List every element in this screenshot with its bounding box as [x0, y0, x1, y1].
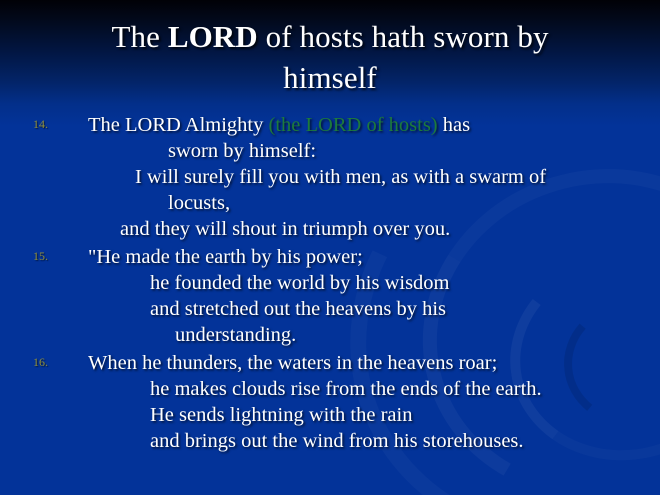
verse-text-highlight: (the LORD of hosts): [269, 114, 438, 136]
slide-title: The LORD of hosts hath sworn by himself: [0, 16, 660, 98]
verse-text-segment: The LORD Almighty: [88, 114, 269, 136]
verse-line: sworn by himself:: [0, 138, 660, 164]
verse-line: and brings out the wind from his storeho…: [0, 428, 660, 454]
slide-body: 14.The LORD Almighty (the LORD of hosts)…: [0, 112, 660, 456]
presentation-slide: The LORD of hosts hath sworn by himself …: [0, 0, 660, 495]
slide-title-line2: himself: [0, 57, 660, 98]
verse-line: and stretched out the heavens by his: [0, 296, 660, 322]
verse-line: understanding.: [0, 322, 660, 348]
slide-title-lord: LORD: [168, 19, 258, 54]
verse-block: 16.When he thunders, the waters in the h…: [0, 350, 660, 454]
verse-line: He sends lightning with the rain: [0, 402, 660, 428]
verse-line: The LORD Almighty (the LORD of hosts) ha…: [0, 112, 660, 138]
verse-line: and they will shout in triumph over you.: [0, 216, 660, 242]
verse-line: I will surely fill you with men, as with…: [0, 164, 660, 190]
verse-text-segment: has: [438, 114, 470, 136]
verse-line: he makes clouds rise from the ends of th…: [0, 376, 660, 402]
slide-title-part2: of hosts hath sworn by: [258, 19, 549, 54]
verse-block: 14.The LORD Almighty (the LORD of hosts)…: [0, 112, 660, 242]
verse-line: "He made the earth by his power;: [0, 244, 660, 270]
verse-line: When he thunders, the waters in the heav…: [0, 350, 660, 376]
verse-block: 15."He made the earth by his power;he fo…: [0, 244, 660, 348]
verse-line: he founded the world by his wisdom: [0, 270, 660, 296]
verse-number: 15.: [33, 250, 59, 262]
slide-title-part1: The: [111, 19, 167, 54]
verse-number: 14.: [33, 118, 59, 130]
verse-number: 16.: [33, 356, 59, 368]
verse-line: locusts,: [0, 190, 660, 216]
